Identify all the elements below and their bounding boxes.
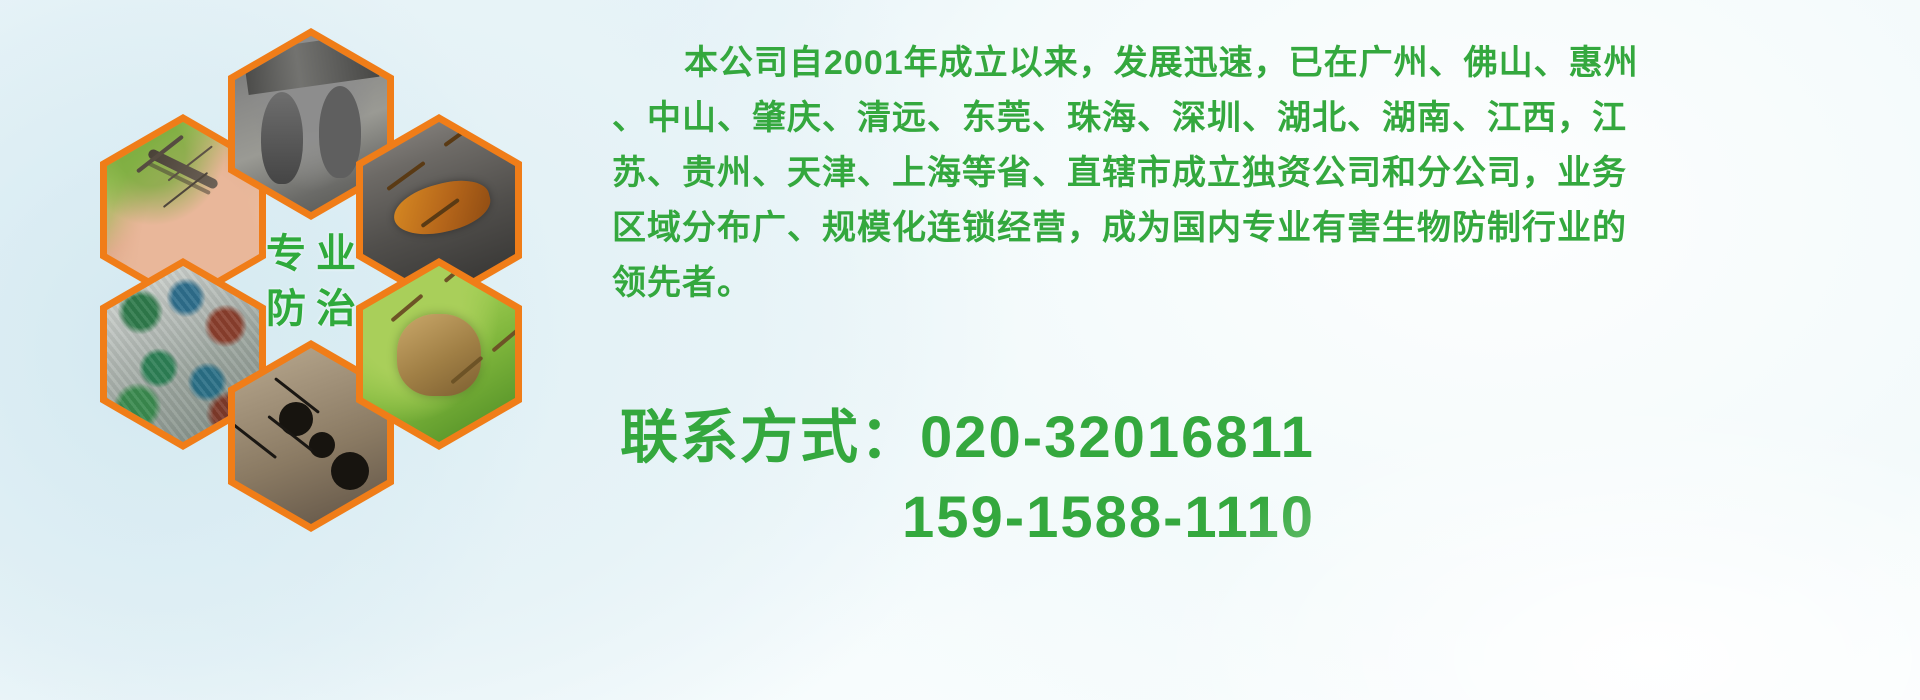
description-line-5: 领先者。 bbox=[612, 256, 1912, 311]
slogan-overlay: 专业 防治 bbox=[228, 186, 394, 378]
description-line-2: 、中山、肇庆、清远、东莞、珠海、深圳、湖北、湖南、江西，江 bbox=[612, 91, 1912, 146]
slogan-line-2: 防治 bbox=[256, 286, 366, 333]
promo-banner: 专业 防治 本公司自2001年成立以来，发展迅速，已在广州、佛山、惠州 、中山、… bbox=[0, 0, 1920, 700]
hex-logo-cluster: 专业 防治 bbox=[88, 10, 588, 570]
description-line-1: 本公司自2001年成立以来，发展迅速，已在广州、佛山、惠州 bbox=[612, 36, 1912, 91]
description-line-3: 苏、贵州、天津、上海等省、直辖市成立独资公司和分公司，业务 bbox=[612, 146, 1912, 201]
slogan-line-1: 专业 bbox=[256, 231, 366, 278]
contact-primary-phone[interactable]: 联系方式：020-32016811 bbox=[620, 398, 1900, 478]
contact-block: 联系方式：020-32016811 159-1588-1110 bbox=[620, 398, 1900, 558]
contact-secondary-phone[interactable]: 159-1588-1110 bbox=[620, 478, 1900, 558]
description-line-4: 区域分布广、规模化连锁经营，成为国内专业有害生物防制行业的 bbox=[612, 201, 1912, 256]
company-description: 本公司自2001年成立以来，发展迅速，已在广州、佛山、惠州 、中山、肇庆、清远、… bbox=[612, 36, 1912, 311]
